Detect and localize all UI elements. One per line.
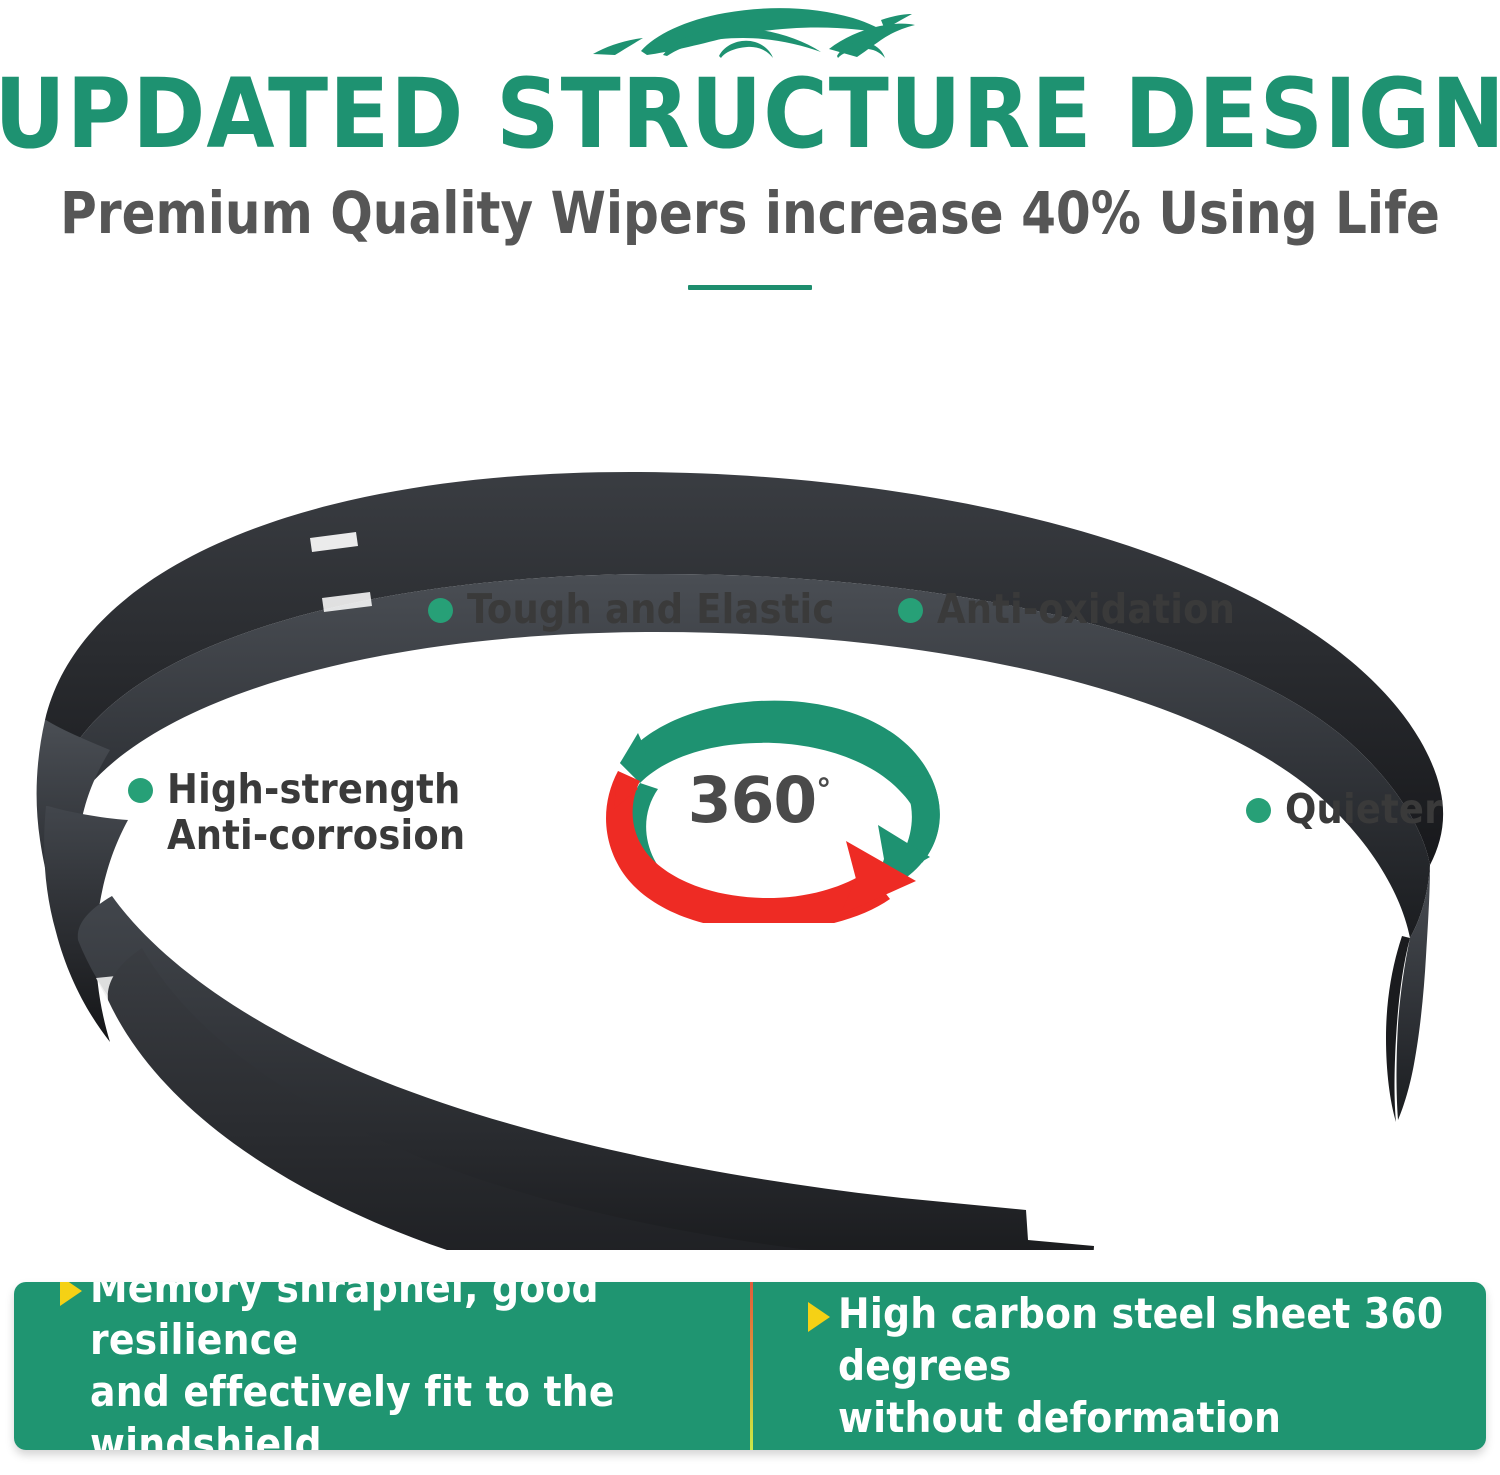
callout-quieter: Quieter (1246, 786, 1443, 832)
callout-tough-and-elastic: Tough and Elastic (428, 586, 834, 632)
callout-label: High-strength Anti-corrosion (167, 766, 465, 858)
banner-panel-memory-shrapnel: Memory shrapnel, good resilience and eff… (14, 1282, 750, 1450)
header-divider (688, 285, 812, 290)
product-infographic: UPDATED STRUCTURE DESIGN Premium Quality… (0, 0, 1500, 1475)
page-subtitle: Premium Quality Wipers increase 40% Usin… (30, 180, 1470, 246)
banner-panel-high-carbon-steel: High carbon steel sheet 360 degrees with… (750, 1282, 1486, 1450)
triangle-bullet-icon (60, 1282, 82, 1306)
callout-high-strength-anti-corrosion: High-strength Anti-corrosion (128, 766, 465, 858)
callout-label: Anti-oxidation (937, 586, 1235, 632)
callout-anti-oxidation: Anti-oxidation (898, 586, 1235, 632)
badge-360-degrees: 360° (578, 693, 958, 923)
banner-text: Memory shrapnel, good resilience and eff… (90, 1282, 750, 1450)
bullet-dot-icon (1246, 798, 1271, 823)
car-silhouette-icon (585, 2, 915, 64)
callout-label: Quieter (1285, 786, 1443, 832)
bullet-dot-icon (128, 778, 153, 803)
callout-label: Tough and Elastic (467, 586, 834, 632)
banner-text: High carbon steel sheet 360 degrees with… (838, 1288, 1486, 1444)
triangle-bullet-icon (808, 1302, 830, 1332)
bullet-dot-icon (898, 598, 923, 623)
bullet-dot-icon (428, 598, 453, 623)
feature-banner: Memory shrapnel, good resilience and eff… (14, 1282, 1486, 1450)
page-title: UPDATED STRUCTURE DESIGN (0, 66, 1500, 162)
banner-divider (750, 1282, 753, 1450)
